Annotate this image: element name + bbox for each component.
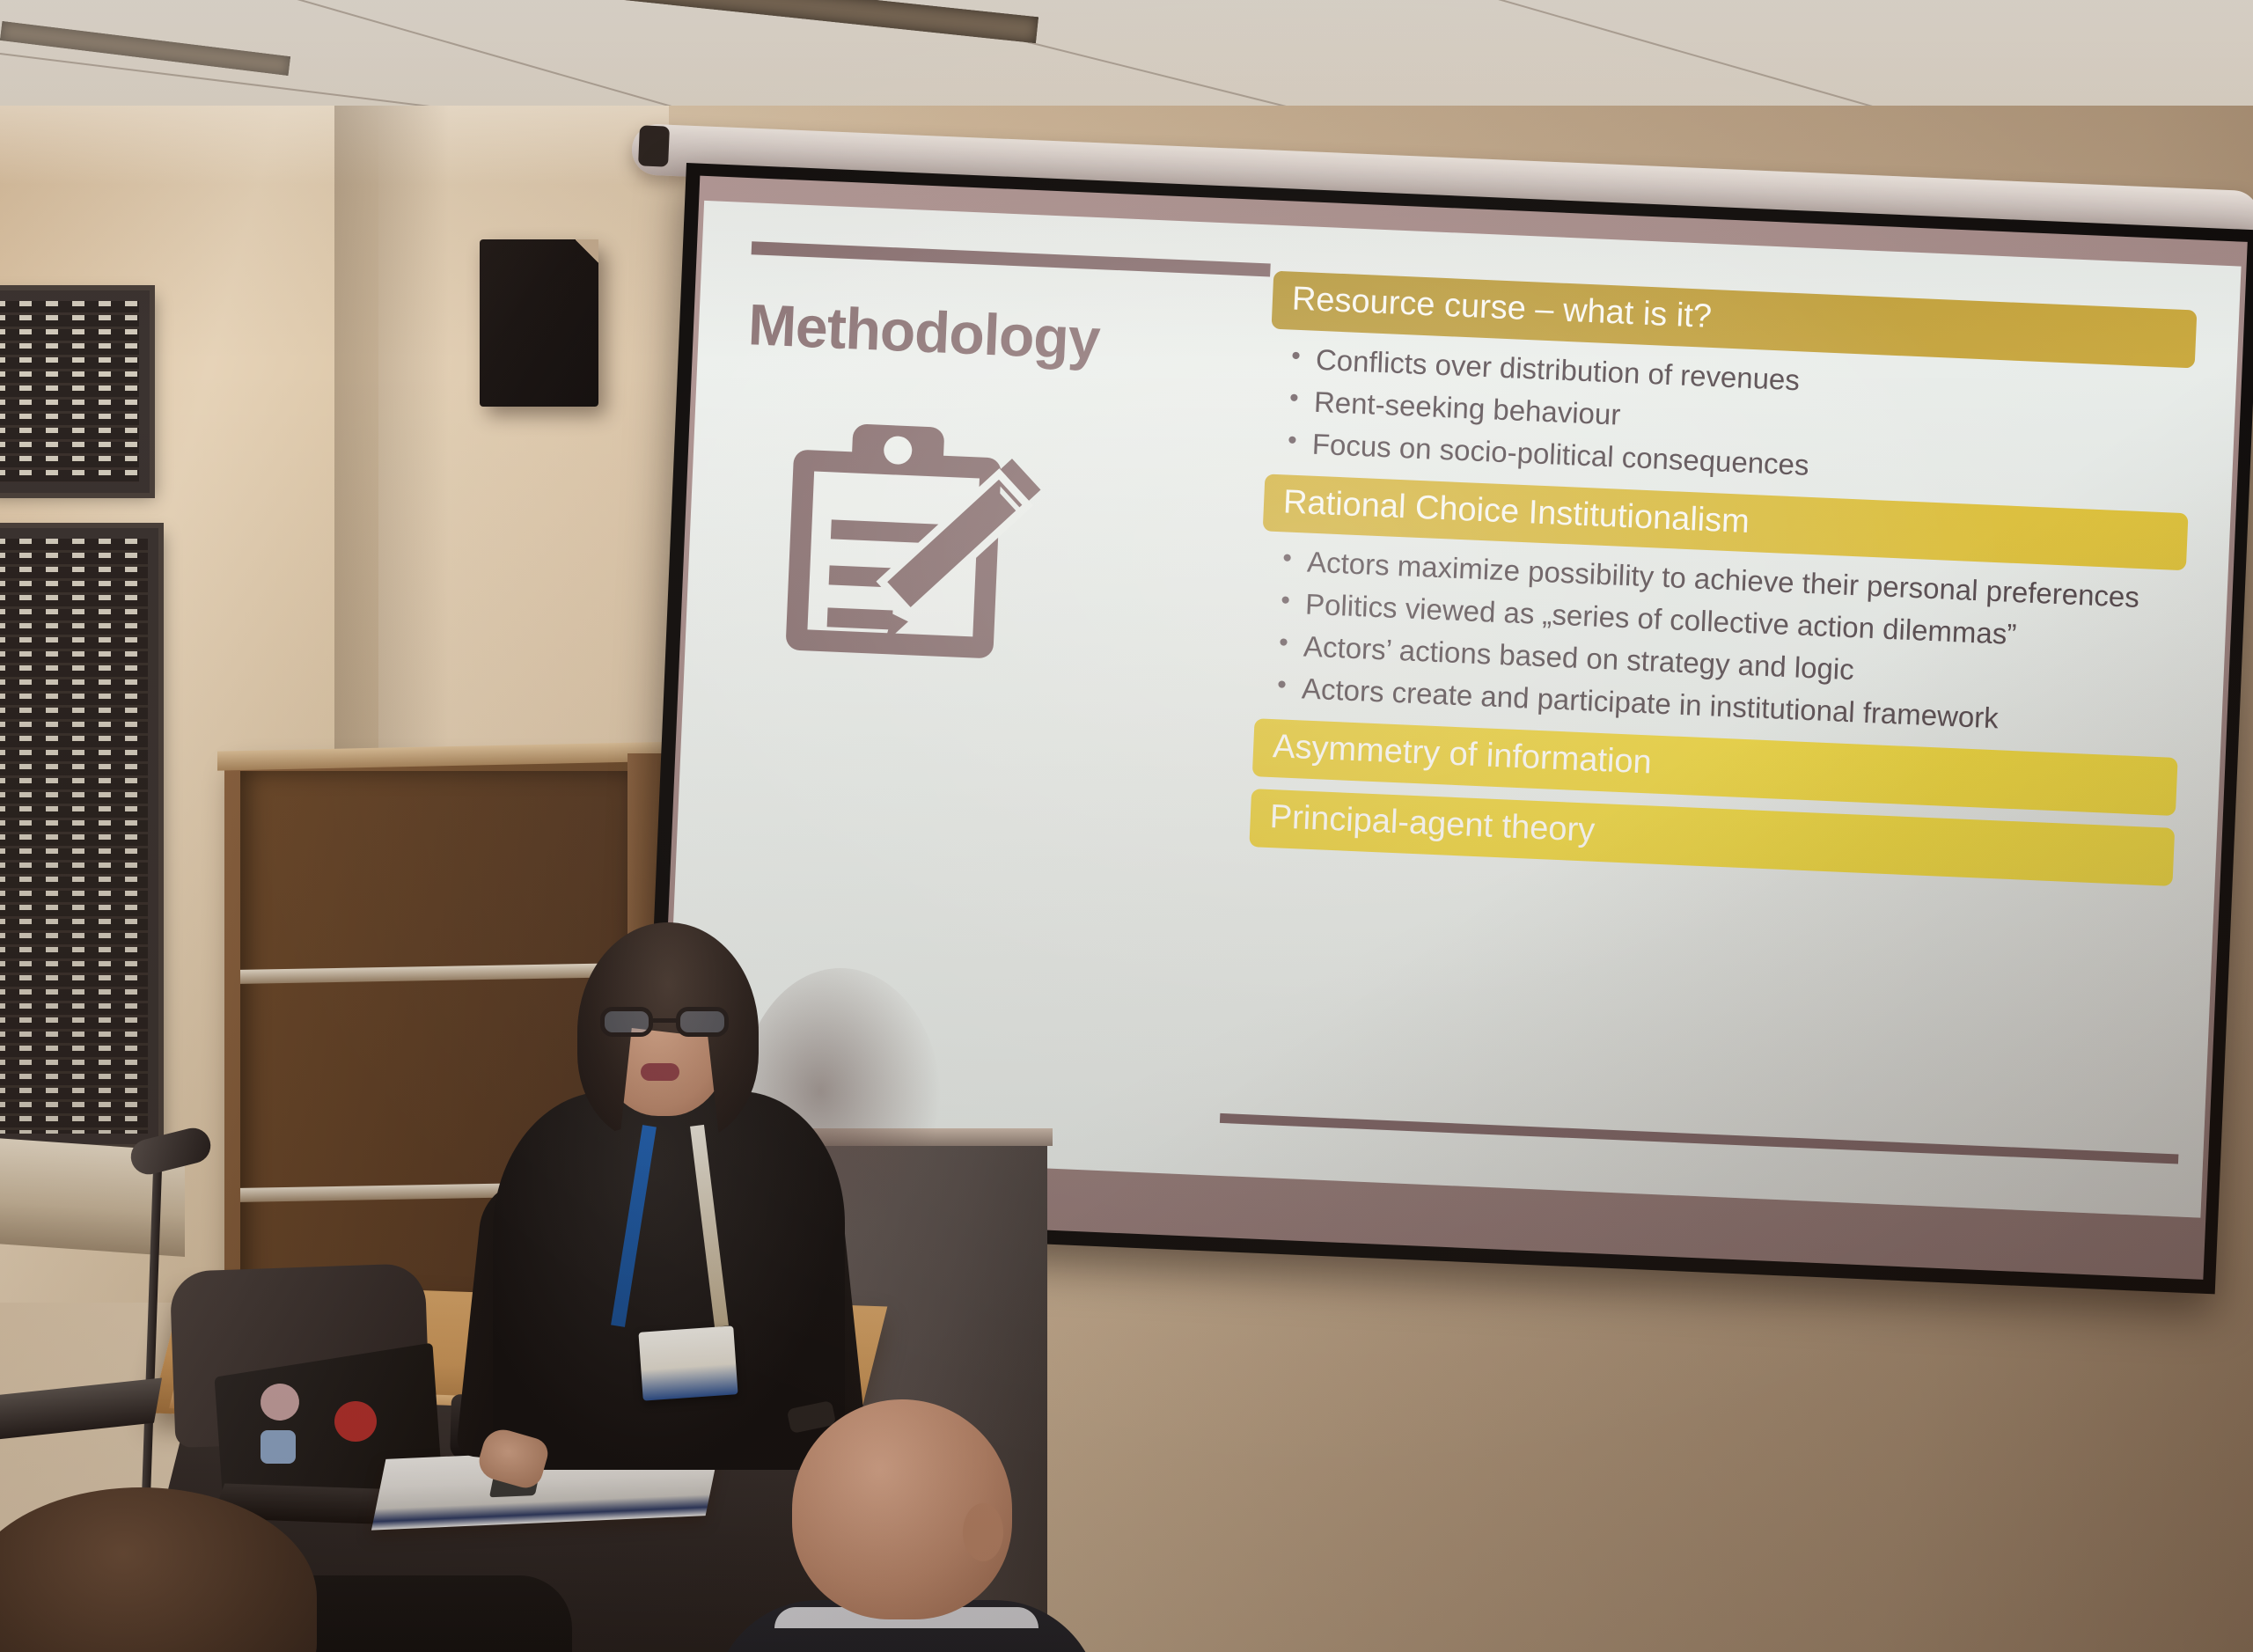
- window-blinds: [0, 301, 139, 482]
- audience-head: [0, 1487, 317, 1652]
- glasses-icon: [600, 1007, 729, 1037]
- slide-top-rule: [752, 241, 1271, 276]
- slide-title: Methodology: [747, 290, 1101, 372]
- slide-content-column: Resource curse – what is it? Conflicts o…: [1249, 271, 2197, 890]
- window-lower: [0, 528, 158, 1144]
- presenter: [475, 915, 845, 1461]
- laptop-sticker: [334, 1401, 377, 1442]
- glasses-left-lens: [600, 1007, 653, 1037]
- audience-ear: [963, 1503, 1003, 1561]
- clipboard-pencil-icon: [782, 407, 1058, 682]
- ceiling-light-panel: [546, 0, 1038, 43]
- slide-bottom-rule: [1220, 1113, 2178, 1164]
- projector-screen-roller-cap: [638, 125, 670, 166]
- window-blinds: [0, 539, 148, 1134]
- audience-member-haired: [0, 1487, 334, 1652]
- glasses-bridge: [653, 1018, 676, 1023]
- window-upper: [0, 290, 150, 493]
- lecture-room-scene: Methodology: [0, 0, 2253, 1652]
- bullet-list-resource-curse: Conflicts over distribution of revenues …: [1266, 339, 2194, 500]
- wall-speaker: [480, 239, 598, 407]
- glasses-right-lens: [676, 1007, 729, 1037]
- laptop-sticker: [261, 1430, 296, 1464]
- conference-badge: [638, 1325, 738, 1400]
- ceiling-light-panel: [0, 21, 290, 76]
- bullet-list-rational-choice: Actors maximize possibility to achieve t…: [1255, 542, 2185, 745]
- presenter-mouth: [641, 1063, 679, 1081]
- audience-member-bald: [792, 1399, 1021, 1652]
